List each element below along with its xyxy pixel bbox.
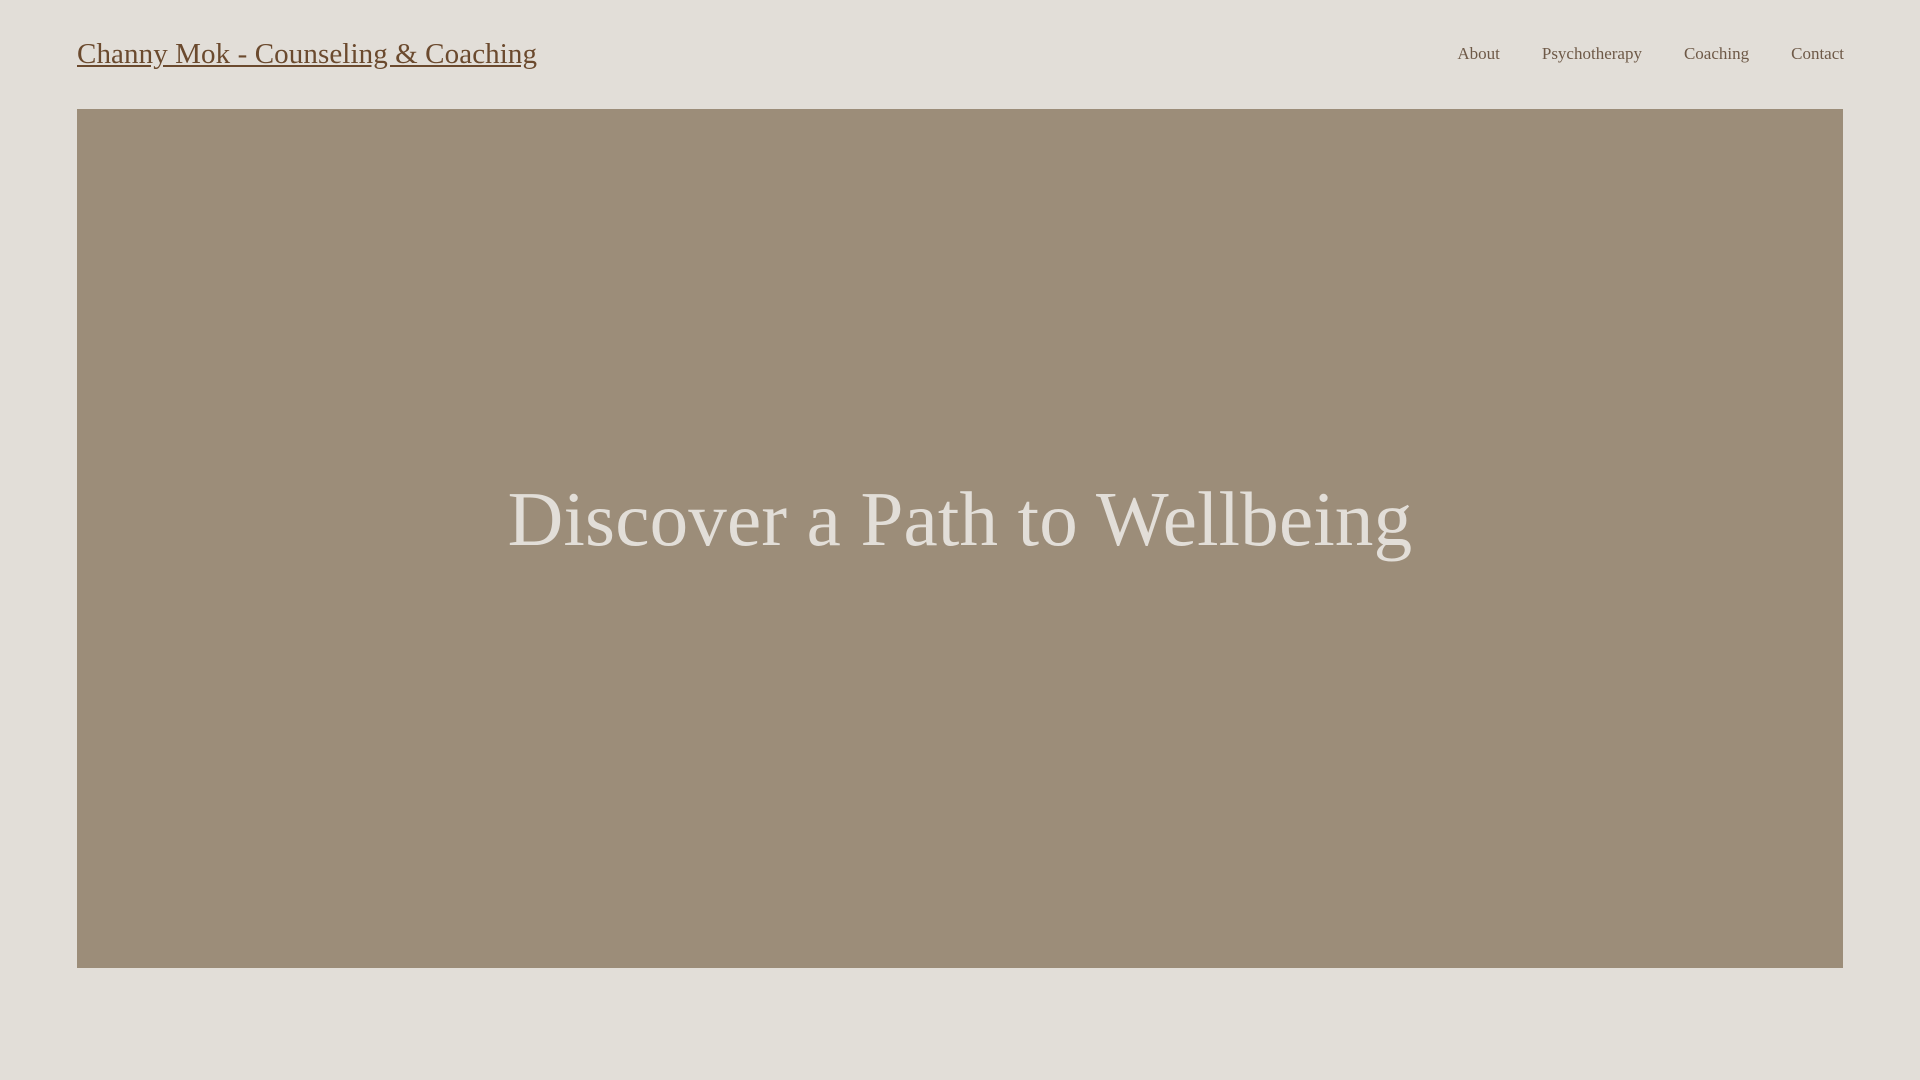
nav-item-psychotherapy[interactable]: Psychotherapy (1542, 40, 1642, 68)
hero-headline: Discover a Path to Wellbeing (77, 477, 1843, 562)
site-header: Channy Mok - Counseling & Coaching About… (77, 0, 1844, 109)
site-title[interactable]: Channy Mok - Counseling & Coaching (77, 37, 537, 72)
page-root: Channy Mok - Counseling & Coaching About… (0, 0, 1920, 1080)
nav-item-contact[interactable]: Contact (1791, 40, 1844, 68)
hero-content: Discover a Path to Wellbeing (77, 477, 1843, 562)
nav-item-coaching[interactable]: Coaching (1684, 40, 1749, 68)
hero-banner: Discover a Path to Wellbeing (77, 109, 1843, 968)
primary-navigation: About Psychotherapy Coaching Contact (1457, 40, 1844, 68)
nav-item-about[interactable]: About (1457, 40, 1500, 68)
